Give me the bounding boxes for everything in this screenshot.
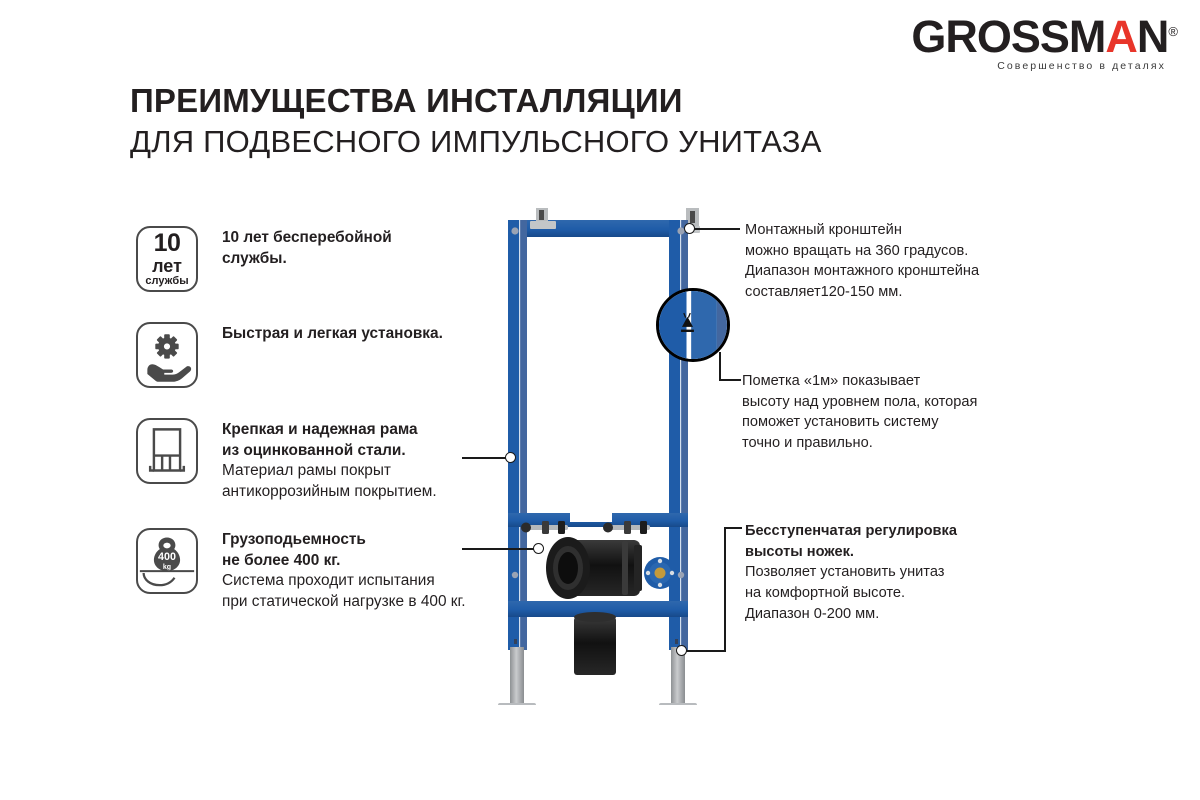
- kettlebell-unit-label: kg: [163, 564, 171, 571]
- callout-leg-height-adjustment: Бесступенчатая регулировка высоты ножек.…: [745, 521, 957, 625]
- leader-load-capacity: [462, 548, 538, 550]
- callout-line: поможет установить систему: [742, 414, 939, 430]
- feature-line: Быстрая и легкая установка.: [222, 325, 443, 342]
- logo-text-accent: A: [1105, 11, 1137, 62]
- callout-line: Диапазон 0-200 мм.: [745, 606, 879, 622]
- feature-line: 10 лет бесперебойной: [222, 229, 392, 246]
- leader-one-meter-horizontal: [719, 379, 741, 381]
- leader-steel-frame: [462, 457, 510, 459]
- gear-hand-glyph: [138, 324, 196, 386]
- callout-line: составляет120-150 мм.: [745, 284, 902, 300]
- feature-line: антикоррозийным покрытием.: [222, 483, 437, 500]
- leader-dot-load-capacity: [533, 543, 544, 554]
- page-subtitle: ДЛЯ ПОДВЕСНОГО ИМПУЛЬСНОГО УНИТАЗА: [130, 124, 822, 160]
- feature-line: не более 400 кг.: [222, 552, 340, 569]
- feature-steel-frame-text: Крепкая и надежная рама из оцинкованной …: [222, 418, 437, 503]
- steel-frame-icon: [136, 418, 198, 484]
- feature-line: Система проходит испытания: [222, 572, 435, 589]
- feature-ten-years: 10 лет службы 10 лет бесперебойной служб…: [136, 226, 392, 292]
- callout-line: Диапазон монтажного кронштейна: [745, 263, 979, 279]
- feature-line: службы.: [222, 250, 287, 267]
- leader-leg-adjust-top: [724, 527, 742, 529]
- gear-hand-icon: [136, 322, 198, 388]
- callout-line: можно вращать на 360 градусов.: [745, 243, 968, 259]
- adjustable-leg-left: [498, 647, 536, 705]
- one-meter-magnifier: [656, 288, 730, 362]
- adjustable-leg-right: [659, 647, 697, 705]
- feature-ten-years-text: 10 лет бесперебойной службы.: [222, 226, 392, 269]
- kettlebell-weight-label: 400: [158, 551, 176, 563]
- feature-line: из оцинкованной стали.: [222, 442, 406, 459]
- load-capacity-icon: 400 kg: [136, 528, 198, 594]
- waste-pipe: [546, 537, 642, 599]
- ten-years-caption: службы: [145, 276, 188, 287]
- callout-line: Пометка «1м» показывает: [742, 373, 920, 389]
- infographic-page: GROSSMAN® Совершенство в деталях ПРЕИМУЩ…: [0, 0, 1200, 800]
- ten-years-icon: 10 лет службы: [136, 226, 198, 292]
- callout-line: высоты ножек.: [745, 544, 854, 560]
- feature-line: Крепкая и надежная рама: [222, 421, 418, 438]
- leader-dot-steel-frame: [505, 452, 516, 463]
- callout-line: на комфортной высоте.: [745, 585, 905, 601]
- callout-line: Бесступенчатая регулировка: [745, 523, 957, 539]
- installation-frame-illustration: [470, 195, 740, 705]
- logo-wordmark: GROSSMAN®: [911, 14, 1178, 59]
- installation-frame-drawing: [470, 195, 740, 705]
- leader-leg-adjust-bottom: [681, 650, 726, 652]
- feature-load-capacity: 400 kg Грузоподьемность не более 400 кг.…: [136, 528, 466, 613]
- ten-years-number: 10: [154, 231, 181, 256]
- callout-line: точно и правильно.: [742, 435, 873, 451]
- callout-line: Позволяет установить унитаз: [745, 564, 944, 580]
- feature-load-capacity-text: Грузоподьемность не более 400 кг. Систем…: [222, 528, 466, 613]
- page-title: ПРЕИМУЩЕСТВА ИНСТАЛЛЯЦИИ: [130, 82, 683, 120]
- leader-dot-mounting-bracket: [684, 223, 695, 234]
- leader-dot-leg-adjust: [676, 645, 687, 656]
- registered-trademark-icon: ®: [1168, 24, 1178, 39]
- steel-frame-glyph: [138, 420, 196, 482]
- callout-line: высоту над уровнем пола, которая: [742, 394, 977, 410]
- leader-leg-adjust-vertical: [724, 527, 726, 651]
- brand-logo: GROSSMAN® Совершенство в деталях: [911, 14, 1178, 72]
- feature-easy-install-text: Быстрая и легкая установка.: [222, 322, 443, 345]
- kettlebell-glyph: 400 kg: [138, 530, 196, 592]
- callout-line: Монтажный кронштейн: [745, 222, 902, 238]
- ten-years-unit: лет: [152, 257, 182, 275]
- leader-mounting-bracket: [690, 228, 740, 230]
- feature-line: Грузоподьемность: [222, 531, 366, 548]
- callout-mounting-bracket: Монтажный кронштейн можно вращать на 360…: [745, 220, 979, 303]
- drain-pipe: [574, 617, 616, 675]
- feature-steel-frame: Крепкая и надежная рама из оцинкованной …: [136, 418, 437, 503]
- feature-line: Материал рамы покрыт: [222, 462, 391, 479]
- feature-easy-install: Быстрая и легкая установка.: [136, 322, 443, 388]
- logo-text-part1: GROSSM: [911, 11, 1105, 62]
- flush-connector: [644, 557, 676, 589]
- leader-one-meter-vertical: [719, 352, 721, 380]
- callout-one-meter-mark: Пометка «1м» показывает высоту над уровн…: [742, 371, 977, 454]
- logo-text-part2: N: [1137, 11, 1169, 62]
- feature-line: при статической нагрузке в 400 кг.: [222, 593, 466, 610]
- one-meter-magnified-glyph: [659, 291, 727, 359]
